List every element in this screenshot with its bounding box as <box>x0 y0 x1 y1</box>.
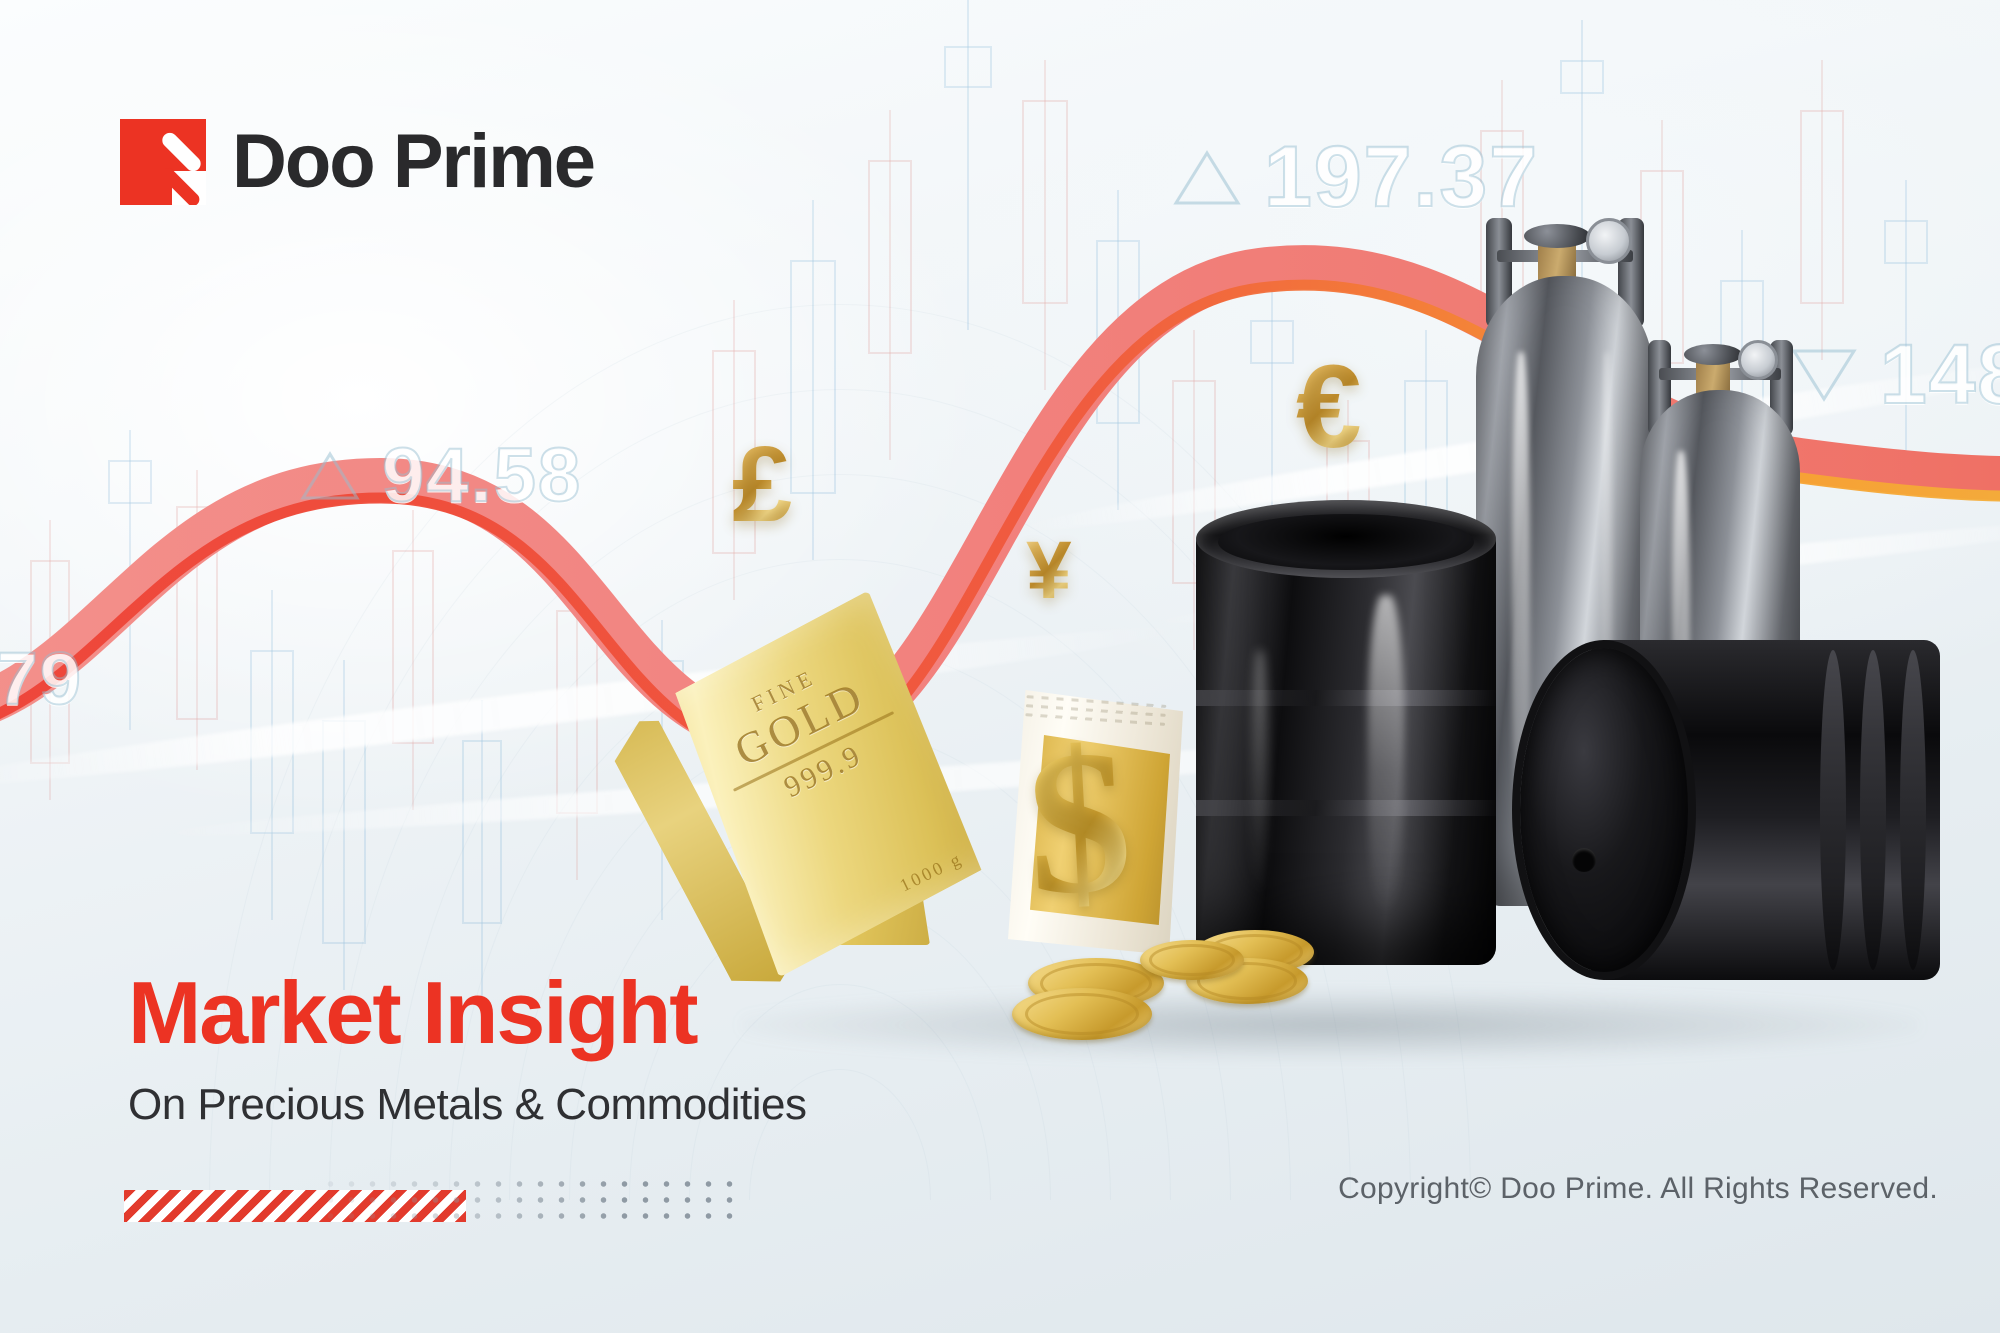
oil-drum-upright <box>1196 500 1496 965</box>
gold-coin <box>1012 988 1152 1040</box>
gold-bar-weight: 1000 g <box>897 848 967 896</box>
page-title: Market Insight <box>128 968 806 1058</box>
brand-logo[interactable]: Doo Prime <box>120 118 594 205</box>
doo-prime-logo-mark <box>120 119 206 205</box>
brand-name: Doo Prime <box>232 118 594 205</box>
floor-shadow <box>740 990 1920 1060</box>
euro-symbol: € <box>1296 348 1362 466</box>
gold-bar-top-face: FINE GOLD 999.9 1000 g <box>639 590 1009 977</box>
market-insight-banner: .79 94.58 197.37 148.48 <box>0 0 2000 1333</box>
oil-drum-lying <box>1520 640 1940 980</box>
pound-symbol: £ <box>732 430 792 538</box>
page-subtitle: On Precious Metals & Commodities <box>128 1080 806 1130</box>
gold-coin <box>1140 940 1244 980</box>
decorative-accent <box>124 1176 744 1232</box>
gold-bar-main: FINE GOLD 999.9 1000 g <box>639 572 1073 1031</box>
halftone-dot-grid <box>320 1176 740 1228</box>
gold-bar-engraving: FINE GOLD 999.9 <box>693 637 916 828</box>
yen-symbol: ¥ <box>1026 530 1072 612</box>
copyright-text: Copyright© Doo Prime. All Rights Reserve… <box>1338 1172 1938 1206</box>
headline-block: Market Insight On Precious Metals & Comm… <box>128 968 806 1130</box>
